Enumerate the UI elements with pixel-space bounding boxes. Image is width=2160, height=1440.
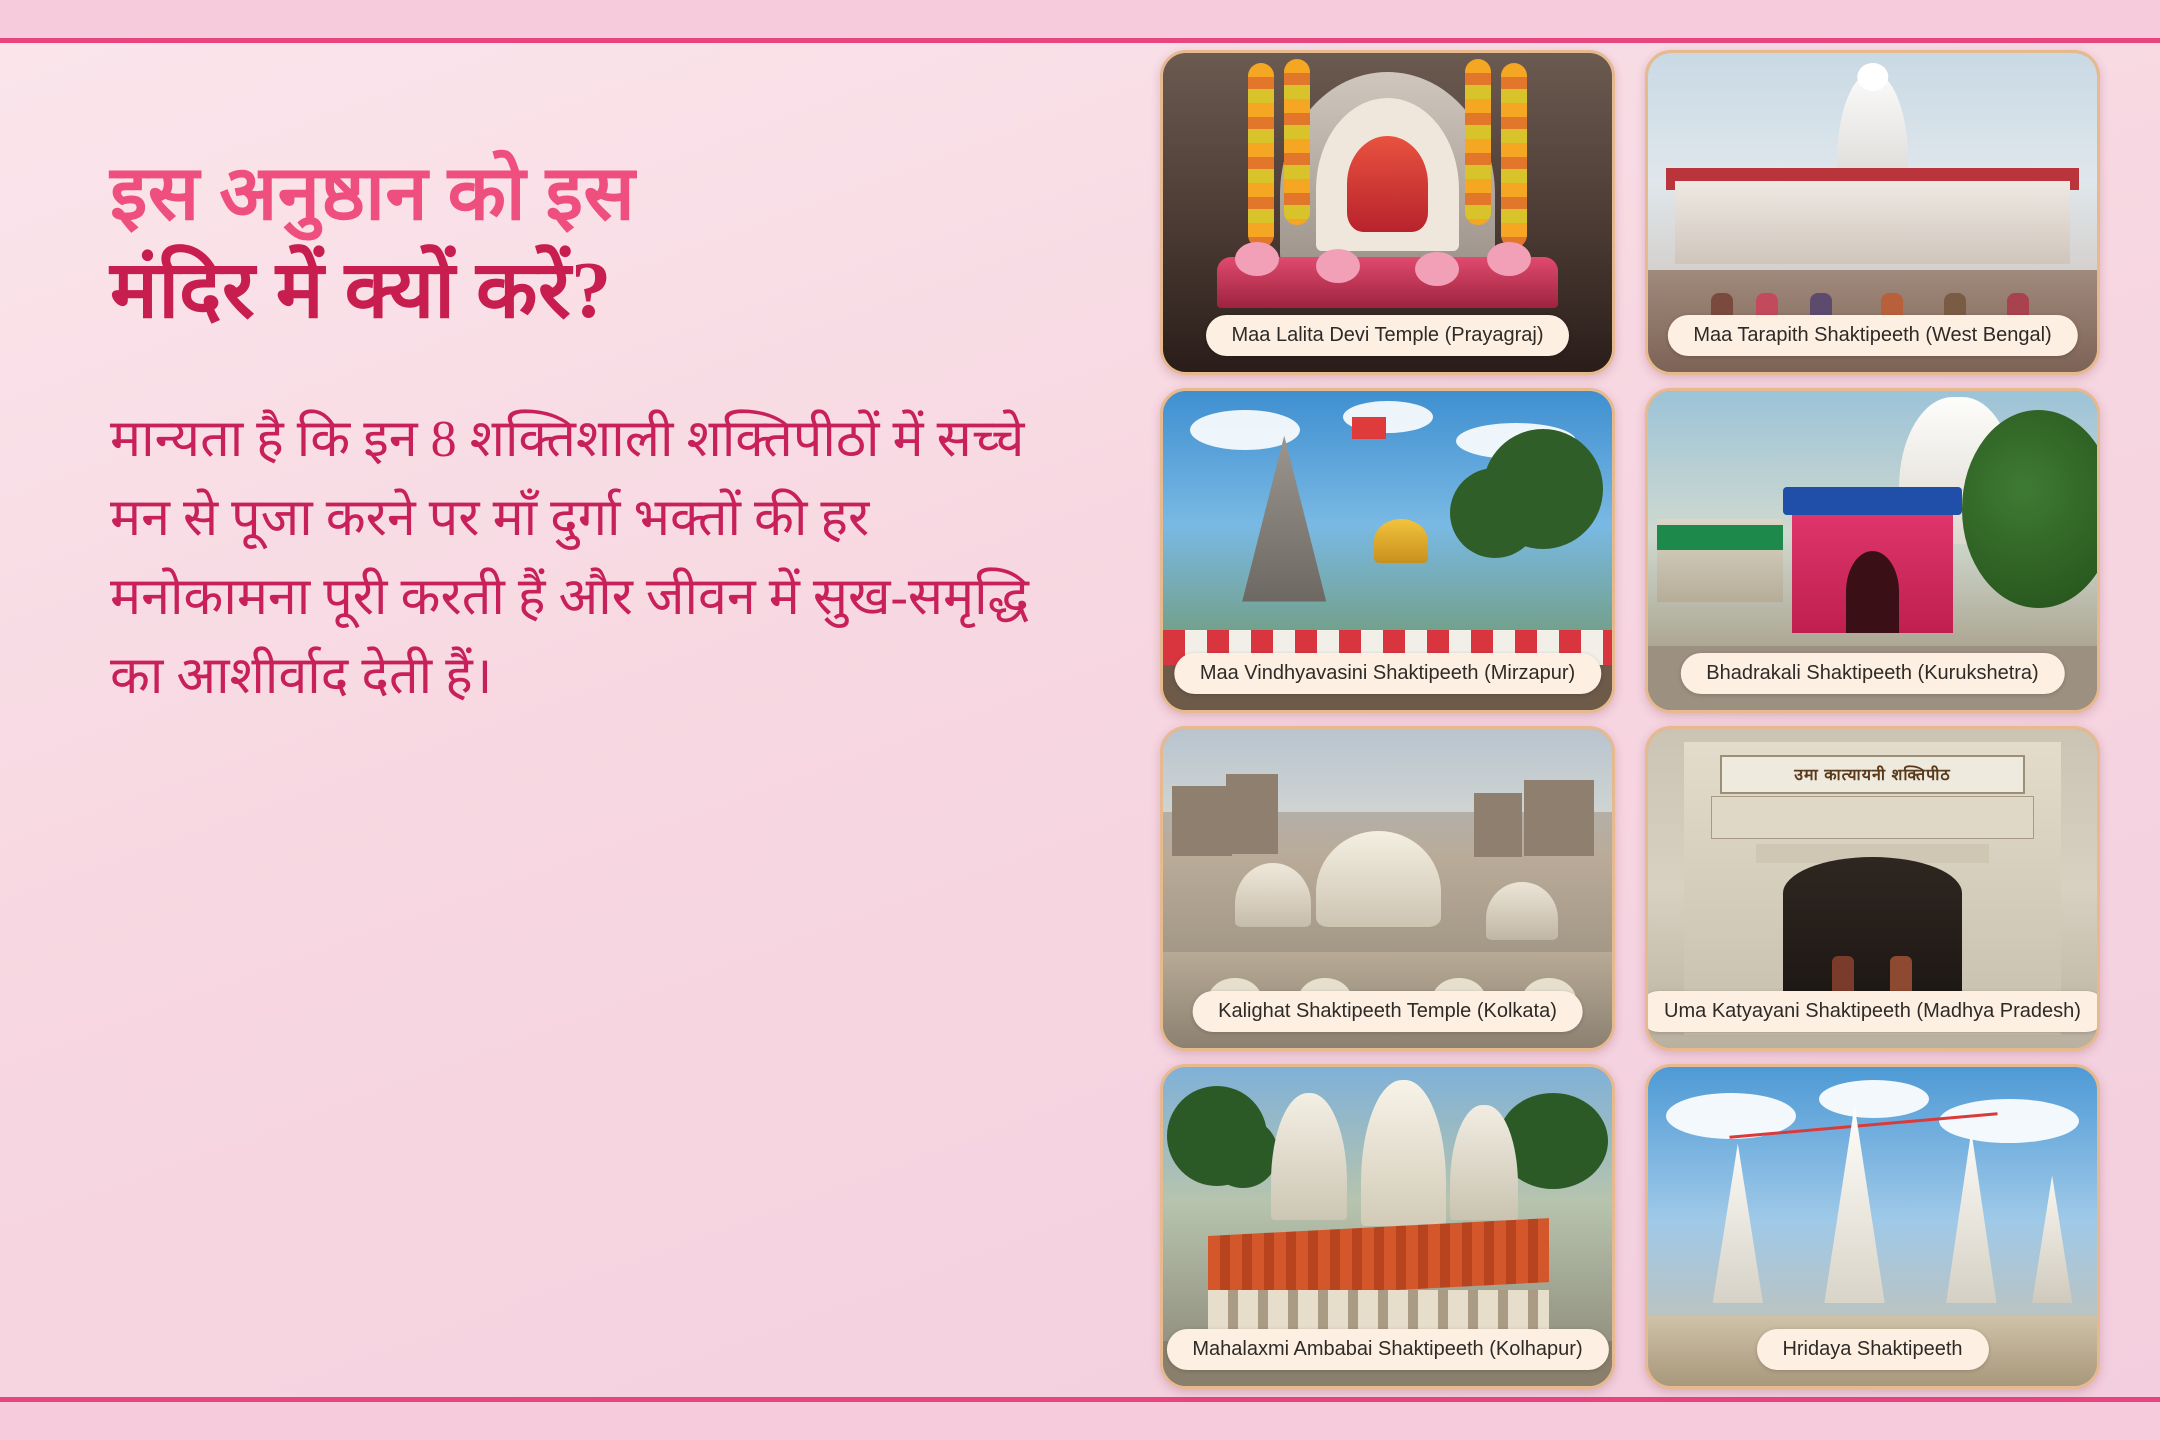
gallery-card-kalighat[interactable]: Kalighat Shaktipeeth Temple (Kolkata) (1160, 726, 1615, 1051)
bottom-edge-band (0, 1402, 2160, 1440)
card-caption: Maa Lalita Devi Temple (Prayagraj) (1206, 315, 1570, 356)
top-divider-rule (0, 38, 2160, 43)
card-caption: Hridaya Shaktipeeth (1756, 1329, 1988, 1370)
poster-canvas: इस अनुष्ठान को इस मंदिर में क्यों करें? … (0, 0, 2160, 1440)
gallery-card-lalita-devi[interactable]: Maa Lalita Devi Temple (Prayagraj) (1160, 50, 1615, 375)
card-caption: Maa Vindhyavasini Shaktipeeth (Mirzapur) (1174, 653, 1601, 694)
temple-signboard-text: उमा कात्यायनी शक्तिपीठ (1722, 757, 2023, 792)
card-caption: Kalighat Shaktipeeth Temple (Kolkata) (1192, 991, 1583, 1032)
card-caption: Maa Tarapith Shaktipeeth (West Bengal) (1667, 315, 2077, 356)
card-caption: Bhadrakali Shaktipeeth (Kurukshetra) (1680, 653, 2064, 694)
gallery-card-mahalaxmi-ambabai[interactable]: Mahalaxmi Ambabai Shaktipeeth (Kolhapur) (1160, 1064, 1615, 1389)
card-caption: Uma Katyayani Shaktipeeth (Madhya Prades… (1645, 991, 2100, 1032)
bottom-divider-rule (0, 1397, 2160, 1402)
gallery-card-vindhyavasini[interactable]: Maa Vindhyavasini Shaktipeeth (Mirzapur) (1160, 388, 1615, 713)
gallery-card-tarapith[interactable]: Maa Tarapith Shaktipeeth (West Bengal) (1645, 50, 2100, 375)
headline-line-1: इस अनुष्ठान को इस (110, 150, 1070, 240)
body-paragraph: मान्यता है कि इन 8 शक्तिशाली शक्तिपीठों … (110, 400, 1050, 716)
temple-gallery-grid: Maa Lalita Devi Temple (Prayagraj) Maa T… (1160, 50, 2100, 1390)
top-edge-band (0, 0, 2160, 38)
gallery-card-uma-katyayani[interactable]: उमा कात्यायनी शक्तिपीठ Uma Katyayani Sha… (1645, 726, 2100, 1051)
card-caption: Mahalaxmi Ambabai Shaktipeeth (Kolhapur) (1166, 1329, 1608, 1370)
gallery-card-bhadrakali[interactable]: Bhadrakali Shaktipeeth (Kurukshetra) (1645, 388, 2100, 713)
text-column: इस अनुष्ठान को इस मंदिर में क्यों करें? … (110, 150, 1070, 716)
page-title: इस अनुष्ठान को इस मंदिर में क्यों करें? (110, 150, 1070, 338)
gallery-card-hridaya[interactable]: Hridaya Shaktipeeth (1645, 1064, 2100, 1389)
headline-line-2: मंदिर में क्यों करें? (110, 244, 1070, 338)
